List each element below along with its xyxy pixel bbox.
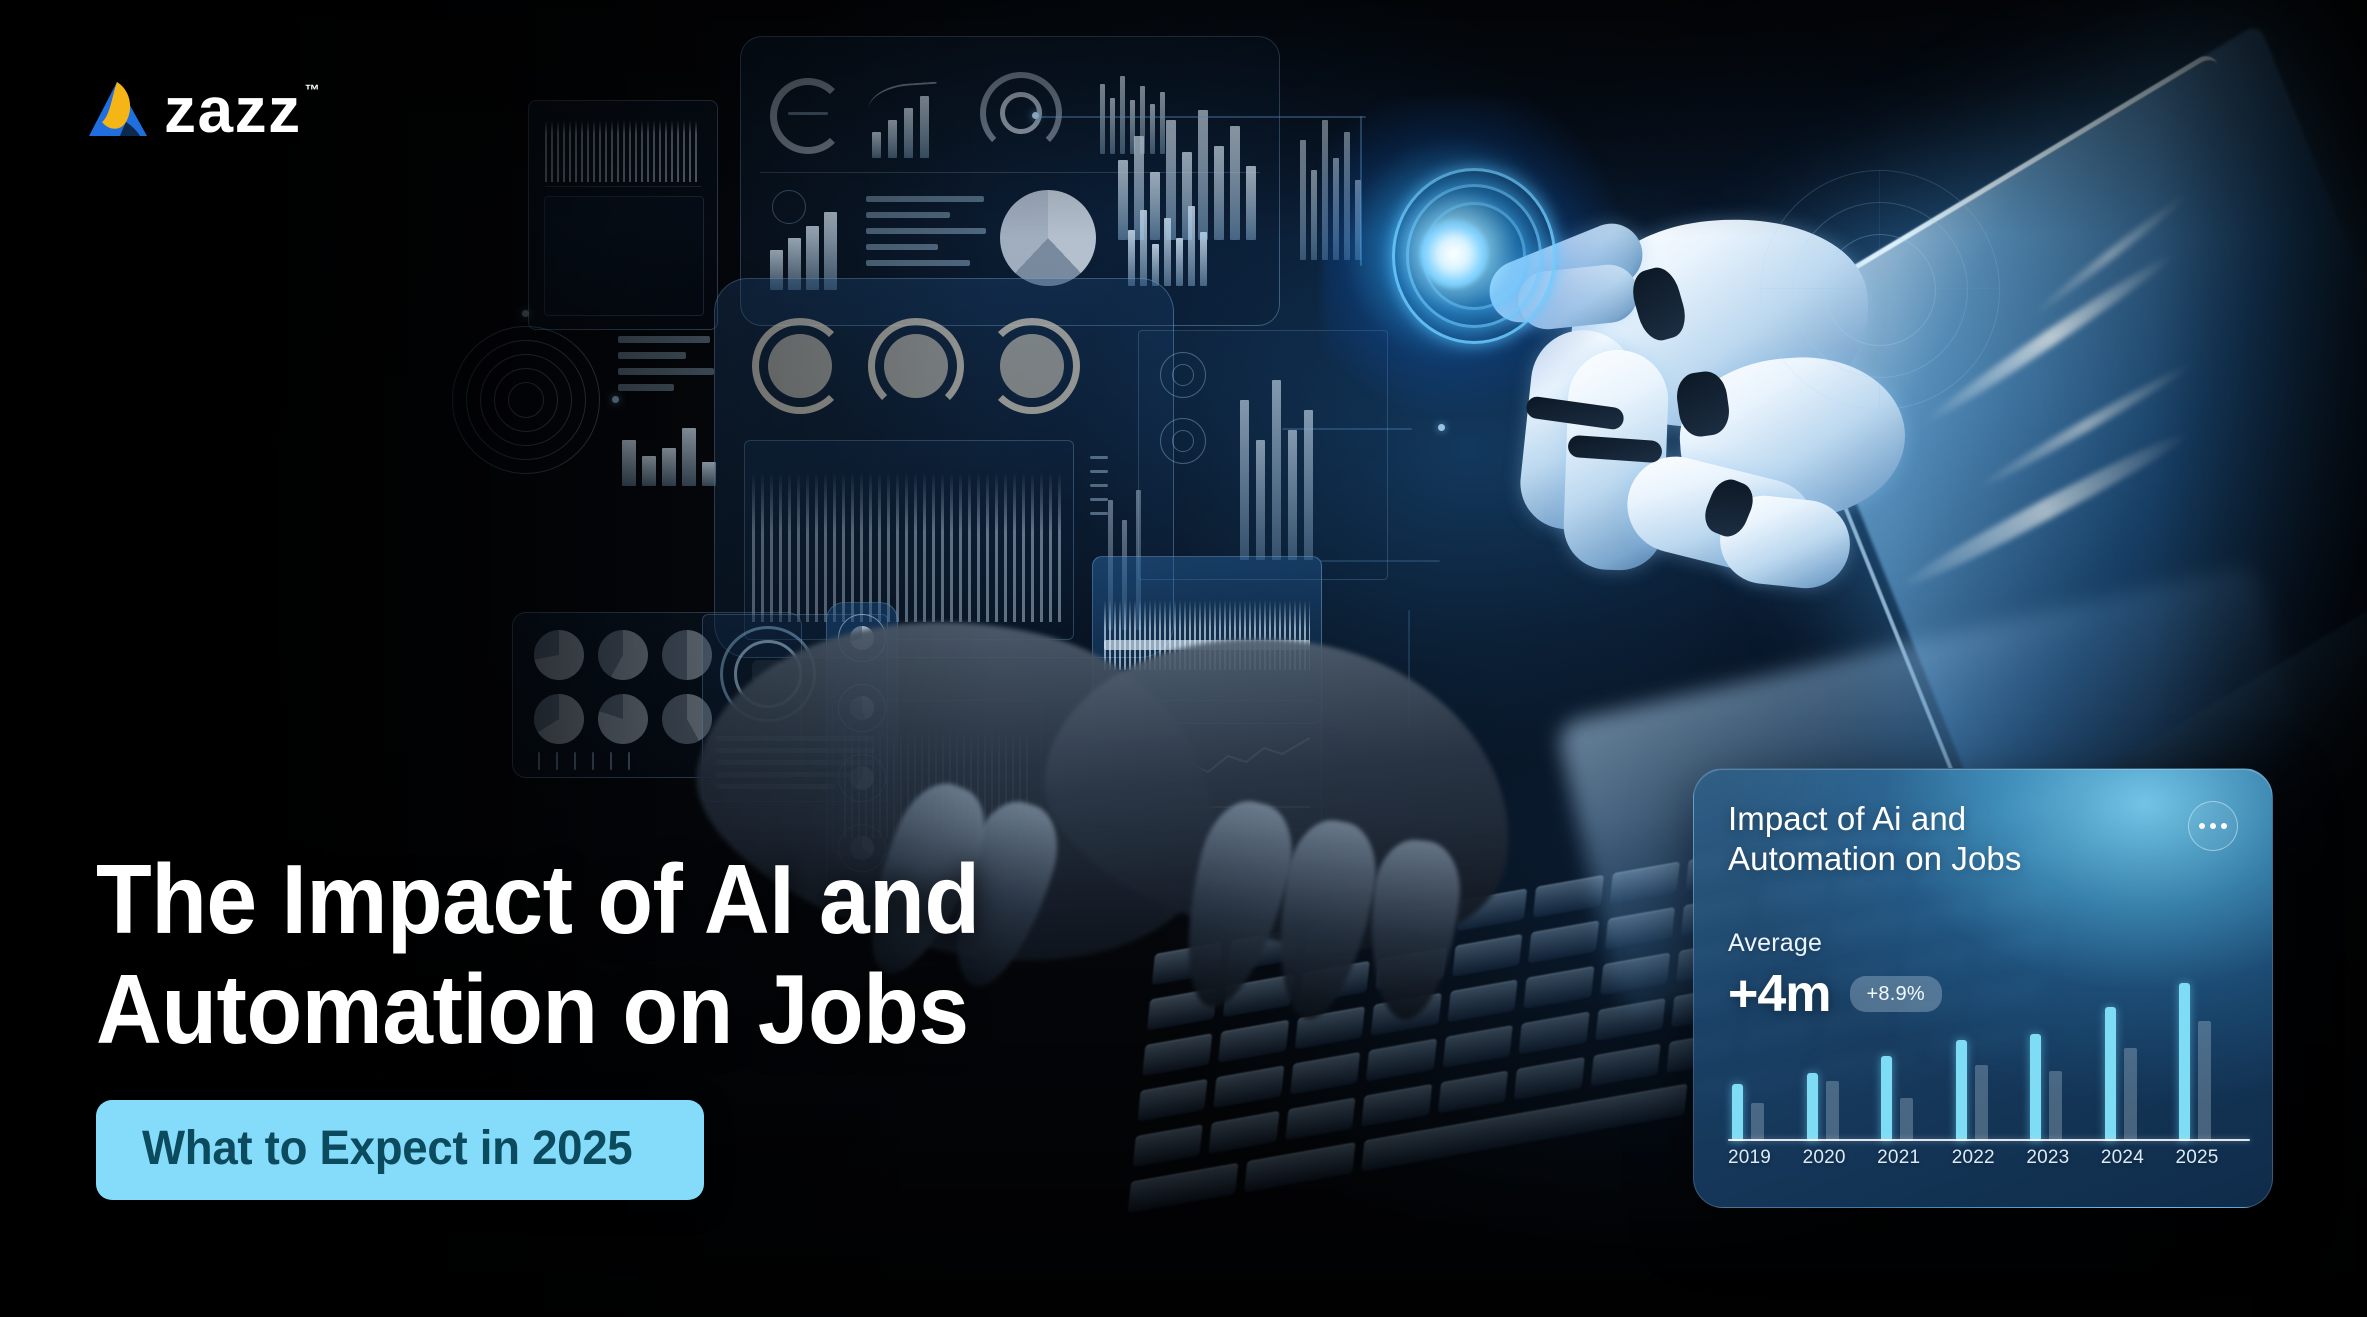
- bar-primary: [2105, 1007, 2116, 1141]
- bar-primary: [1807, 1073, 1818, 1141]
- chart-plot-area: [1728, 983, 2250, 1141]
- bar-secondary: [2049, 1071, 2062, 1141]
- subtitle-pill-label: What to Expect in 2025: [142, 1125, 632, 1173]
- x-tick-label: 2025: [2175, 1147, 2250, 1181]
- bar-group[interactable]: [2175, 983, 2250, 1141]
- zazz-logo-icon: [86, 78, 150, 140]
- bar-group[interactable]: [1952, 983, 2027, 1141]
- x-tick-label: 2019: [1728, 1147, 1803, 1181]
- bar-chart[interactable]: 2019202020212022202320242025: [1728, 983, 2250, 1181]
- headline-line-2: Automation on Jobs: [96, 955, 1175, 1065]
- card-title-line-2: Automation on Jobs: [1728, 839, 2021, 879]
- bar-group[interactable]: [2026, 983, 2101, 1141]
- x-tick-label: 2024: [2101, 1147, 2176, 1181]
- card-title: Impact of Ai and Automation on Jobs: [1728, 799, 2021, 880]
- bar-group[interactable]: [2101, 983, 2176, 1141]
- card-title-line-1: Impact of Ai and: [1728, 799, 2021, 839]
- x-tick-label: 2023: [2026, 1147, 2101, 1181]
- bar-primary: [1956, 1040, 1967, 1141]
- subtitle-pill[interactable]: What to Expect in 2025: [96, 1100, 704, 1200]
- chart-baseline-axis: [1728, 1139, 2250, 1142]
- brand-name: zazz: [164, 81, 302, 140]
- bar-secondary: [2124, 1048, 2137, 1141]
- ellipsis-icon: [2210, 823, 2216, 829]
- bar-group[interactable]: [1728, 983, 1803, 1141]
- hero-banner: zazz ™ The Impact of AI and Automation o…: [0, 0, 2367, 1317]
- metric-label: Average: [1728, 929, 1942, 958]
- card-header: Impact of Ai and Automation on Jobs: [1728, 799, 2238, 880]
- x-tick-label: 2021: [1877, 1147, 1952, 1181]
- trademark-symbol: ™: [305, 83, 320, 98]
- chart-x-axis-labels: 2019202020212022202320242025: [1728, 1147, 2250, 1181]
- more-options-button[interactable]: [2188, 801, 2238, 851]
- bar-secondary: [1826, 1081, 1839, 1141]
- bar-secondary: [1975, 1065, 1988, 1141]
- headline-line-1: The Impact of AI and: [96, 845, 1175, 955]
- bar-secondary: [1900, 1098, 1913, 1141]
- x-tick-label: 2020: [1803, 1147, 1878, 1181]
- bar-primary: [2179, 983, 2190, 1141]
- stat-card[interactable]: Impact of Ai and Automation on Jobs Aver…: [1693, 768, 2273, 1208]
- bar-primary: [1732, 1084, 1743, 1141]
- brand-logo[interactable]: zazz ™: [86, 78, 320, 140]
- page-title: The Impact of AI and Automation on Jobs: [96, 845, 1175, 1065]
- bar-primary: [1881, 1056, 1892, 1141]
- bar-secondary: [2198, 1021, 2211, 1141]
- bar-group[interactable]: [1877, 983, 1952, 1141]
- bar-primary: [2030, 1034, 2041, 1141]
- ellipsis-icon: [2199, 823, 2205, 829]
- bar-secondary: [1751, 1103, 1764, 1141]
- x-tick-label: 2022: [1952, 1147, 2027, 1181]
- ellipsis-icon: [2221, 823, 2227, 829]
- bar-group[interactable]: [1803, 983, 1878, 1141]
